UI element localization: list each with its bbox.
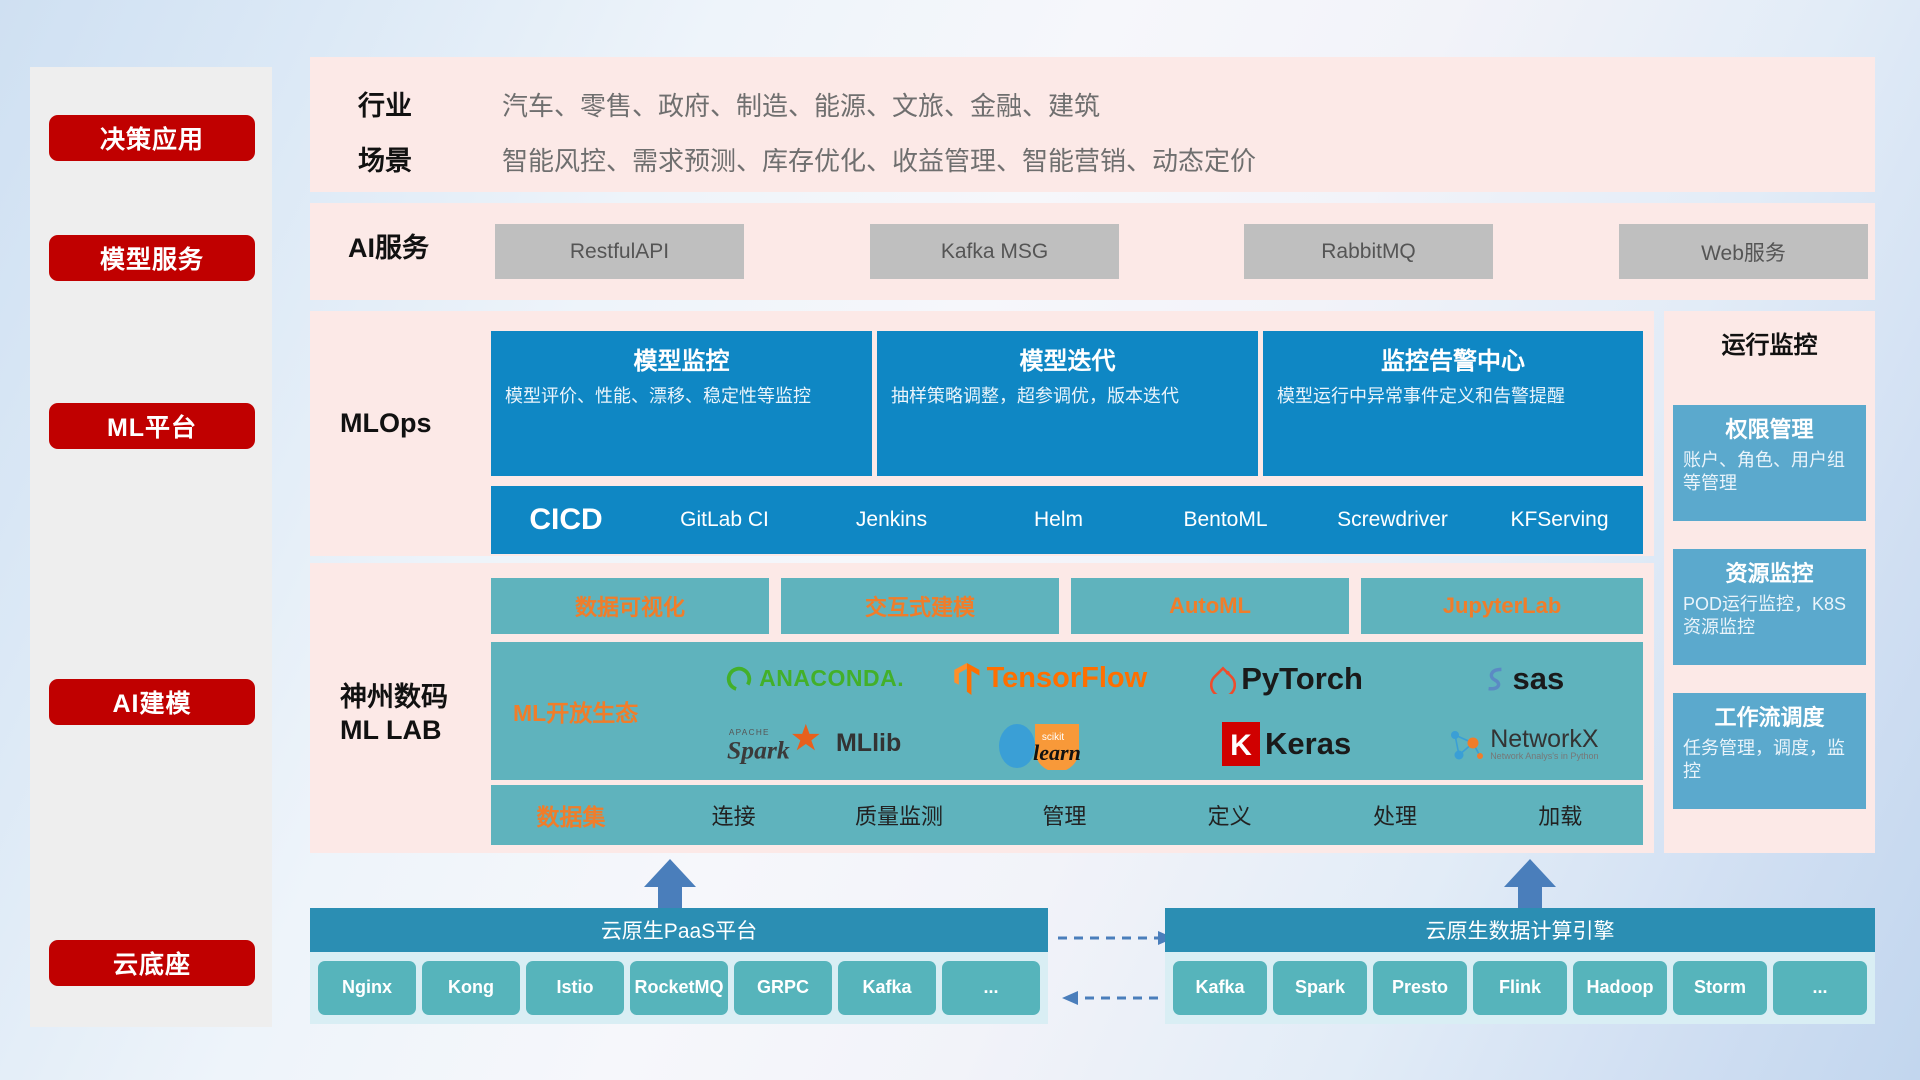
svg-text:K: K xyxy=(1230,729,1252,762)
rail-chip-ai-modeling[interactable]: AI建模 xyxy=(49,679,255,725)
networkx-logo: NetworkX Network Analys's in Python xyxy=(1447,725,1598,763)
ml-lab-row-label: 神州数码 ML LAB xyxy=(340,681,448,747)
cloud-chip-kafka[interactable]: Kafka xyxy=(1173,961,1267,1015)
sas-logo: sas xyxy=(1482,661,1565,697)
ai-modeling-panel: 神州数码 ML LAB 数据可视化 交互式建模 AutoML JupyterLa… xyxy=(310,563,1654,853)
ops-card-permission-management[interactable]: 权限管理 账户、角色、用户组等管理 xyxy=(1673,405,1866,521)
cloud-chip-rocketmq[interactable]: RocketMQ xyxy=(630,961,728,1015)
industry-key: 行业 xyxy=(358,84,412,123)
networkx-wordmark: NetworkX xyxy=(1490,727,1598,752)
card-desc: 模型运行中异常事件定义和告警提醒 xyxy=(1277,384,1629,408)
tab-automl[interactable]: AutoML xyxy=(1071,578,1349,634)
cloud-chip-kong[interactable]: Kong xyxy=(422,961,520,1015)
cloud-chip-tray: Kafka Spark Presto Flink Hadoop Storm ..… xyxy=(1165,952,1875,1024)
card-title: 工作流调度 xyxy=(1683,700,1856,732)
cloud-chip-tray: Nginx Kong Istio RocketMQ GRPC Kafka ... xyxy=(310,952,1048,1024)
cloud-chip-kafka[interactable]: Kafka xyxy=(838,961,936,1015)
tab-jupyterlab[interactable]: JupyterLab xyxy=(1361,578,1643,634)
ai-service-box-rabbitmq[interactable]: RabbitMQ xyxy=(1244,224,1493,279)
cloud-chip-spark[interactable]: Spark xyxy=(1273,961,1367,1015)
card-desc: POD运行监控，K8S资源监控 xyxy=(1683,593,1856,640)
tensorflow-wordmark: TensorFlow xyxy=(987,662,1148,695)
scenario-value: 智能风控、需求预测、库存优化、收益管理、智能营销、动态定价 xyxy=(502,141,1256,178)
rail-chip-label: 模型服务 xyxy=(100,240,204,276)
cloud-group-title: 云原生PaaS平台 xyxy=(310,908,1048,952)
cloud-chip-presto[interactable]: Presto xyxy=(1373,961,1467,1015)
dataset-item-define[interactable]: 定义 xyxy=(1147,799,1312,831)
scenario-key: 场景 xyxy=(358,139,412,178)
cloud-chip-istio[interactable]: Istio xyxy=(526,961,624,1015)
cicd-item-helm[interactable]: Helm xyxy=(975,509,1142,531)
cloud-chip-more[interactable]: ... xyxy=(942,961,1040,1015)
tensorflow-icon xyxy=(954,663,982,695)
cicd-item-screwdriver[interactable]: Screwdriver xyxy=(1309,509,1476,531)
card-desc: 账户、角色、用户组等管理 xyxy=(1683,449,1856,496)
cloud-chip-flink[interactable]: Flink xyxy=(1473,961,1567,1015)
card-desc: 任务管理，调度，监控 xyxy=(1683,737,1856,784)
anaconda-logo: ANACONDA. xyxy=(724,664,904,694)
dataset-item-quality[interactable]: 质量监测 xyxy=(816,799,981,831)
cicd-item-list: GitLab CI Jenkins Helm BentoML Screwdriv… xyxy=(641,509,1643,531)
cicd-item-gitlab-ci[interactable]: GitLab CI xyxy=(641,509,808,531)
cloud-group-title: 云原生数据计算引擎 xyxy=(1165,908,1875,952)
networkx-tagline: Network Analys's in Python xyxy=(1490,752,1598,761)
keras-icon: K xyxy=(1222,722,1260,766)
ml-ecosystem-block: ML开放生态 ANACONDA. TensorFlow xyxy=(491,642,1643,780)
rail-chip-label: 云底座 xyxy=(113,945,191,981)
card-title: 模型监控 xyxy=(505,341,858,376)
card-title: 模型迭代 xyxy=(891,341,1244,376)
decision-application-panel: 行业 汽车、零售、政府、制造、能源、文旅、金融、建筑 场景 智能风控、需求预测、… xyxy=(310,57,1875,192)
cloud-chip-more[interactable]: ... xyxy=(1773,961,1867,1015)
sas-icon xyxy=(1482,664,1508,694)
rail-chip-decision[interactable]: 决策应用 xyxy=(49,115,255,161)
svg-text:learn: learn xyxy=(1034,740,1082,765)
cloud-group-data-engine: 云原生数据计算引擎 Kafka Spark Presto Flink Hadoo… xyxy=(1165,908,1875,1024)
mlops-card-model-iteration[interactable]: 模型迭代 抽样策略调整，超参调优，版本迭代 xyxy=(877,331,1258,476)
rail-chip-ml-platform[interactable]: ML平台 xyxy=(49,403,255,449)
ai-service-row-label: AI服务 xyxy=(348,232,429,265)
tensorflow-logo: TensorFlow xyxy=(954,662,1148,695)
keras-wordmark: Keras xyxy=(1265,726,1351,762)
ai-service-box-restfulapi[interactable]: RestfulAPI xyxy=(495,224,744,279)
ops-card-resource-monitoring[interactable]: 资源监控 POD运行监控，K8S资源监控 xyxy=(1673,549,1866,665)
cloud-chip-hadoop[interactable]: Hadoop xyxy=(1573,961,1667,1015)
cicd-bar: CICD GitLab CI Jenkins Helm BentoML Scre… xyxy=(491,486,1643,554)
cloud-chip-grpc[interactable]: GRPC xyxy=(734,961,832,1015)
dataset-item-list: 连接 质量监测 管理 定义 处理 加载 xyxy=(651,799,1643,831)
card-title: 资源监控 xyxy=(1683,556,1856,588)
networkx-icon xyxy=(1447,725,1485,763)
cloud-chip-nginx[interactable]: Nginx xyxy=(318,961,416,1015)
rail-chip-label: ML平台 xyxy=(107,408,197,444)
mlops-row-label: MLOps xyxy=(340,407,432,440)
ops-card-workflow-scheduling[interactable]: 工作流调度 任务管理，调度，监控 xyxy=(1673,693,1866,809)
mlops-card-model-monitoring[interactable]: 模型监控 模型评价、性能、漂移、稳定性等监控 xyxy=(491,331,872,476)
mlops-panel: MLOps 模型监控 模型评价、性能、漂移、稳定性等监控 模型迭代 抽样策略调整… xyxy=(310,311,1654,556)
pytorch-icon xyxy=(1210,664,1236,694)
mlops-card-alert-center[interactable]: 监控告警中心 模型运行中异常事件定义和告警提醒 xyxy=(1263,331,1643,476)
dataset-item-manage[interactable]: 管理 xyxy=(982,799,1147,831)
ops-monitoring-title: 运行监控 xyxy=(1664,325,1875,360)
cicd-item-jenkins[interactable]: Jenkins xyxy=(808,509,975,531)
spark-icon: APACHE Spark xyxy=(727,722,837,766)
dataset-item-load[interactable]: 加载 xyxy=(1478,799,1643,831)
dataset-item-process[interactable]: 处理 xyxy=(1312,799,1477,831)
spark-mllib-logo: APACHE Spark MLlib xyxy=(727,722,901,766)
scikit-learn-logo: scikit learn xyxy=(991,718,1109,770)
cloud-group-paas: 云原生PaaS平台 Nginx Kong Istio RocketMQ GRPC… xyxy=(310,908,1048,1024)
rail-chip-cloud-base[interactable]: 云底座 xyxy=(49,940,255,986)
card-title: 权限管理 xyxy=(1683,412,1856,444)
anaconda-wordmark: ANACONDA. xyxy=(759,665,904,692)
card-desc: 模型评价、性能、漂移、稳定性等监控 xyxy=(505,384,858,408)
rail-chip-model-service[interactable]: 模型服务 xyxy=(49,235,255,281)
card-title: 监控告警中心 xyxy=(1277,341,1629,376)
ai-service-panel: AI服务 RestfulAPI Kafka MSG RabbitMQ Web服务 xyxy=(310,203,1875,300)
industry-value: 汽车、零售、政府、制造、能源、文旅、金融、建筑 xyxy=(502,86,1100,123)
sas-wordmark: sas xyxy=(1513,661,1565,697)
ml-ecosystem-label: ML开放生态 xyxy=(513,694,638,728)
ai-service-box-web-service[interactable]: Web服务 xyxy=(1619,224,1868,279)
cicd-item-kfserving[interactable]: KFServing xyxy=(1476,509,1643,531)
card-desc: 抽样策略调整，超参调优，版本迭代 xyxy=(891,384,1244,408)
dataset-bar: 数据集 连接 质量监测 管理 定义 处理 加载 xyxy=(491,785,1643,845)
rail-chip-label: 决策应用 xyxy=(100,120,204,156)
mllib-wordmark: MLlib xyxy=(836,729,901,758)
dataset-item-connect[interactable]: 连接 xyxy=(651,799,816,831)
dataset-label: 数据集 xyxy=(491,798,651,832)
bidirectional-dashed-arrows xyxy=(1058,918,1178,1018)
cicd-label: CICD xyxy=(491,503,641,537)
ml-logo-grid: ANACONDA. TensorFlow PyTorch xyxy=(696,646,1641,776)
cloud-chip-storm[interactable]: Storm xyxy=(1673,961,1767,1015)
ai-service-box-kafka-msg[interactable]: Kafka MSG xyxy=(870,224,1119,279)
stack-layer-rail: 决策应用 模型服务 ML平台 AI建模 云底座 xyxy=(30,67,272,1027)
svg-text:Spark: Spark xyxy=(727,735,790,764)
anaconda-icon xyxy=(724,664,754,694)
ops-monitoring-panel: 运行监控 权限管理 账户、角色、用户组等管理 资源监控 POD运行监控，K8S资… xyxy=(1664,311,1875,853)
tab-interactive-modeling[interactable]: 交互式建模 xyxy=(781,578,1059,634)
keras-logo: K Keras xyxy=(1222,722,1351,766)
pytorch-wordmark: PyTorch xyxy=(1241,661,1363,697)
tab-data-visualization[interactable]: 数据可视化 xyxy=(491,578,769,634)
scikit-learn-icon: scikit learn xyxy=(991,718,1109,770)
cicd-item-bentoml[interactable]: BentoML xyxy=(1142,509,1309,531)
pytorch-logo: PyTorch xyxy=(1210,661,1363,697)
rail-chip-label: AI建模 xyxy=(112,684,191,720)
